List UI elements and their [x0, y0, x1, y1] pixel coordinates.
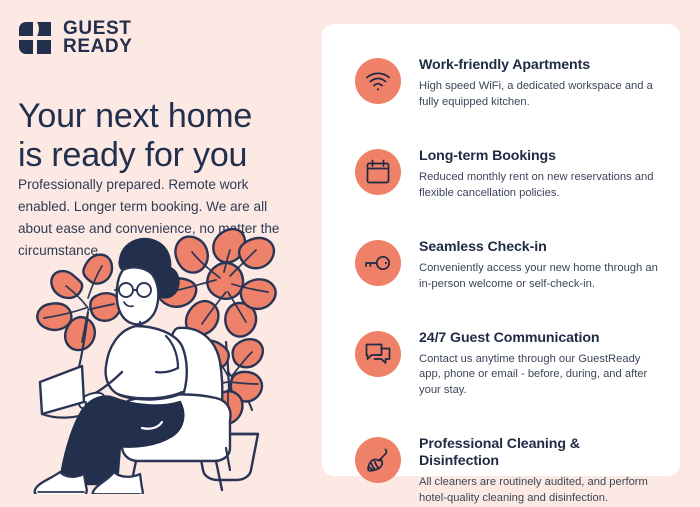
brand-wordmark: GUEST READY — [63, 20, 133, 55]
feature-text: 24/7 Guest Communication Contact us anyt… — [419, 329, 660, 400]
feature-text: Work-friendly Apartments High speed WiFi… — [419, 56, 660, 111]
woman-on-laptop-in-armchair-with-plants-illustration — [30, 222, 320, 494]
feature-text: Long-term Bookings Reduced monthly rent … — [419, 147, 660, 202]
list-item[interactable]: Professional Cleaning & Disinfection All… — [322, 435, 680, 507]
guestready-quadrant-logo-icon — [18, 21, 52, 55]
feature-title: 24/7 Guest Communication — [419, 330, 660, 347]
headline-line-2: is ready for you — [18, 136, 313, 175]
feature-description: All cleaners are routinely audited, and … — [419, 475, 660, 507]
page-title: Your next home is ready for you — [18, 97, 313, 176]
feature-text: Professional Cleaning & Disinfection All… — [419, 435, 660, 507]
marketing-banner: GUEST READY Your next home is ready for … — [0, 0, 700, 500]
list-item[interactable]: 24/7 Guest Communication Contact us anyt… — [322, 329, 680, 400]
brand-name-line2: READY — [63, 38, 133, 56]
feature-description: Conveniently access your new home throug… — [419, 261, 660, 293]
feature-title: Seamless Check-in — [419, 239, 660, 256]
list-item[interactable]: Long-term Bookings Reduced monthly rent … — [322, 147, 680, 202]
feature-description: Contact us anytime through our GuestRead… — [419, 352, 660, 400]
headline-line-1: Your next home — [18, 97, 313, 136]
broom-icon — [355, 437, 401, 483]
feature-panel: Work-friendly Apartments High speed WiFi… — [322, 24, 680, 476]
feature-description: Reduced monthly rent on new reservations… — [419, 170, 660, 202]
feature-description: High speed WiFi, a dedicated workspace a… — [419, 79, 660, 111]
list-item[interactable]: Work-friendly Apartments High speed WiFi… — [322, 56, 680, 111]
list-item[interactable]: Seamless Check-in Conveniently access yo… — [322, 238, 680, 293]
feature-list: Work-friendly Apartments High speed WiFi… — [322, 24, 680, 507]
feature-title: Professional Cleaning & Disinfection — [419, 436, 660, 470]
hero-column: GUEST READY Your next home is ready for … — [0, 0, 320, 500]
wifi-icon — [355, 58, 401, 104]
feature-title: Long-term Bookings — [419, 148, 660, 165]
key-icon — [355, 240, 401, 286]
brand-name-line1: GUEST — [63, 20, 133, 38]
feature-title: Work-friendly Apartments — [419, 57, 660, 74]
chat-bubbles-icon — [355, 331, 401, 377]
calendar-icon — [355, 149, 401, 195]
feature-text: Seamless Check-in Conveniently access yo… — [419, 238, 660, 293]
brand-logo[interactable]: GUEST READY — [18, 20, 133, 55]
